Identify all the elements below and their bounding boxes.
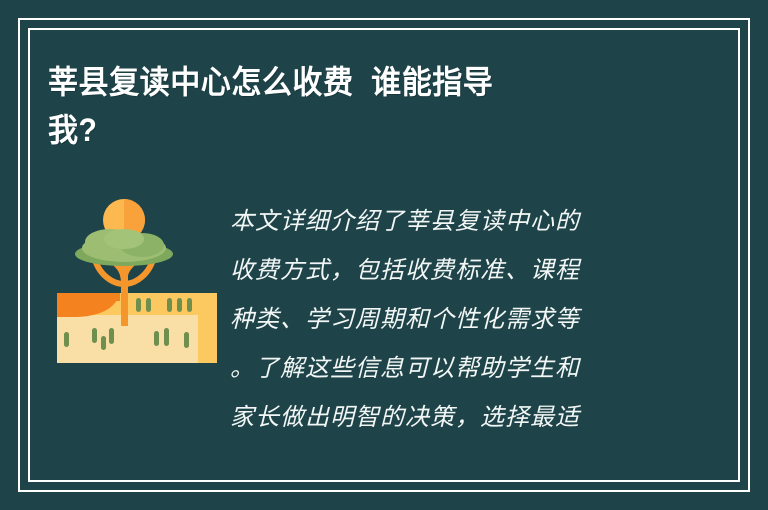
body-line-2: 收费方式，包括收费标准、课程 [230, 247, 670, 296]
article-body-text: 本文详细介绍了莘县复读中心的 收费方式，包括收费标准、课程 种类、学习周期和个性… [230, 198, 670, 443]
content-row: 本文详细介绍了莘县复读中心的 收费方式，包括收费标准、课程 种类、学习周期和个性… [0, 190, 768, 480]
article-card: 莘县复读中心怎么收费 谁能指导 我? [0, 0, 768, 510]
body-line-3: 种类、学习周期和个性化需求等 [230, 296, 670, 345]
title-line-1: 莘县复读中心怎么收费 谁能指导 [48, 58, 650, 106]
body-line-1: 本文详细介绍了莘县复读中心的 [230, 198, 670, 247]
body-line-5: 家长做出明智的决策，选择最适 [230, 394, 670, 443]
tree-canopy [75, 229, 173, 266]
page-title: 莘县复读中心怎么收费 谁能指导 我? [48, 58, 688, 154]
tree-sun-landscape-icon [50, 190, 220, 370]
body-line-4: 。了解这些信息可以帮助学生和 [230, 345, 670, 394]
title-line-2: 我? [48, 106, 650, 154]
